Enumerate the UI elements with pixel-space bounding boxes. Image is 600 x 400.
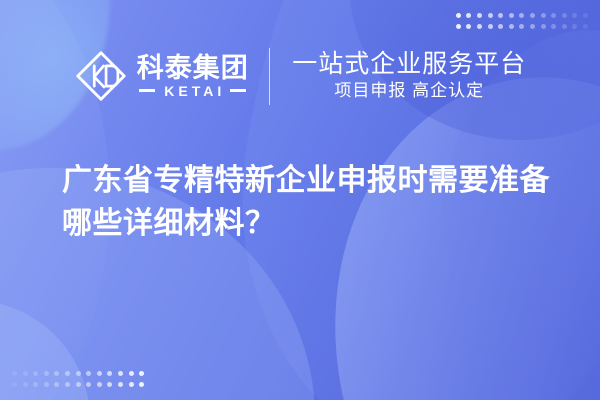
dot-icon — [572, 13, 577, 18]
dot-grid-icon-top-right — [456, 13, 588, 29]
dot-icon — [86, 371, 91, 376]
dot-icon — [466, 24, 471, 29]
dot-icon — [466, 13, 471, 18]
dot-icon — [456, 13, 461, 18]
banner-header: 科泰集团 KETAI 一站式企业服务平台 项目申报 高企认定 — [0, 40, 600, 112]
dot-icon — [562, 24, 567, 29]
dot-icon — [488, 13, 493, 18]
dot-icon — [139, 382, 144, 387]
dot-icon — [541, 24, 546, 29]
slogan-main-text: 一站式企业服务平台 — [292, 51, 526, 79]
dot-icon — [572, 24, 577, 29]
dot-icon — [530, 13, 535, 18]
dot-icon — [65, 371, 70, 376]
brand-logo[interactable]: 科泰集团 KETAI — [74, 49, 249, 103]
logo-d-counter — [106, 66, 118, 86]
dot-icon — [477, 13, 482, 18]
dot-icon — [12, 371, 17, 376]
dot-icon — [76, 382, 81, 387]
dot-icon — [530, 24, 535, 29]
brand-slogan: 一站式企业服务平台 项目申报 高企认定 — [292, 51, 526, 101]
dash-rule-icon-right — [230, 89, 246, 92]
dot-icon — [456, 24, 461, 29]
dot-icon — [519, 13, 524, 18]
dot-grid-row — [456, 13, 588, 18]
dot-icon — [54, 382, 59, 387]
dot-icon — [33, 382, 38, 387]
ketai-diamond-k-logo-icon — [74, 49, 128, 103]
dot-icon — [23, 382, 28, 387]
dot-icon — [509, 24, 514, 29]
dot-icon — [118, 371, 123, 376]
dot-icon — [551, 24, 556, 29]
promo-banner: 科泰集团 KETAI 一站式企业服务平台 项目申报 高企认定 广东省专精特新企业… — [0, 0, 600, 400]
dot-icon — [33, 371, 38, 376]
dot-icon — [12, 382, 17, 387]
dot-icon — [583, 24, 588, 29]
dot-icon — [44, 371, 49, 376]
dot-icon — [519, 24, 524, 29]
dot-icon — [44, 382, 49, 387]
page-title: 广东省专精特新企业申报时需要准备哪些详细材料？ — [62, 160, 562, 245]
dot-grid-row — [456, 24, 588, 29]
dot-icon — [86, 382, 91, 387]
dot-icon — [477, 24, 482, 29]
dot-icon — [551, 13, 556, 18]
dot-icon — [541, 13, 546, 18]
dot-icon — [509, 13, 514, 18]
dot-grid-icon-bottom-left — [12, 371, 144, 387]
dot-icon — [97, 371, 102, 376]
dot-icon — [107, 371, 112, 376]
dot-icon — [76, 371, 81, 376]
dot-grid-row — [12, 382, 144, 387]
dot-icon — [139, 371, 144, 376]
dot-grid-row — [12, 371, 144, 376]
dot-icon — [23, 371, 28, 376]
dot-icon — [129, 371, 134, 376]
vertical-divider-icon — [269, 48, 271, 105]
brand-name-cn: 科泰集团 — [137, 55, 249, 82]
brand-wordmark: 科泰集团 KETAI — [137, 55, 249, 98]
dash-rule-icon-left — [139, 89, 155, 92]
brand-name-en: KETAI — [160, 84, 225, 98]
slogan-sub-text: 项目申报 高企认定 — [292, 82, 526, 101]
dot-icon — [129, 382, 134, 387]
dot-icon — [107, 382, 112, 387]
brand-name-en-row: KETAI — [137, 84, 249, 98]
dot-icon — [54, 371, 59, 376]
dot-icon — [498, 13, 503, 18]
dot-icon — [562, 13, 567, 18]
dot-icon — [97, 382, 102, 387]
dot-icon — [118, 382, 123, 387]
dot-icon — [488, 24, 493, 29]
dot-icon — [65, 382, 70, 387]
dot-icon — [583, 13, 588, 18]
dot-icon — [498, 24, 503, 29]
